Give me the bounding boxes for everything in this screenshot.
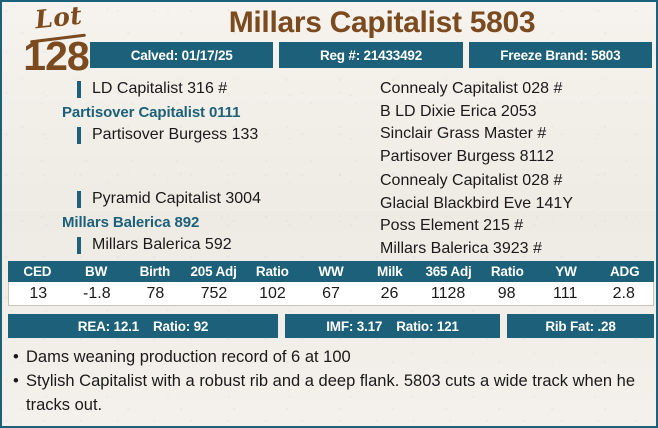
epd-value-row: 13 -1.8 78 752 102 67 26 1128 98 111 2.8 xyxy=(8,282,654,306)
pedigree-dam-great-2: Glacial Blackbird Eve 141Y xyxy=(380,193,656,216)
measurement-bars: REA: 12.1 Ratio: 92 IMF: 3.17 Ratio: 121… xyxy=(8,314,654,338)
epd-header-row: CED BW Birth 205 Adj Ratio WW Milk 365 A… xyxy=(8,261,654,282)
pedigree-dam-left: Pyramid Capitalist 3004 Millars Balerica… xyxy=(62,188,372,256)
notes-list: • Dams weaning production record of 6 at… xyxy=(10,345,654,417)
bullet-icon: • xyxy=(13,369,19,393)
epd-header-ww: WW xyxy=(302,261,361,282)
epd-value-365-adj: 1128 xyxy=(419,282,478,305)
epd-header-ratio-2: Ratio xyxy=(478,261,537,282)
epd-value-ratio-1: 102 xyxy=(243,282,302,305)
pedigree-dam-great-3: Poss Element 215 # xyxy=(380,215,656,238)
info-bar-reg: Reg #: 21433492 xyxy=(279,42,462,68)
epd-header-birth: Birth xyxy=(125,261,184,282)
pedigree-sire-granddam: Partisover Burgess 133 xyxy=(62,124,372,147)
note-item: • Dams weaning production record of 6 at… xyxy=(10,345,654,369)
pedigree-dam-great-4: Millars Balerica 3923 # xyxy=(380,238,656,261)
pedigree-sire-great-2: B LD Dixie Erica 2053 xyxy=(380,101,656,124)
pedigree-sire-great-3: Sinclair Grass Master # xyxy=(380,123,656,146)
epd-value-birth: 78 xyxy=(126,282,185,305)
epd-header-ratio-1: Ratio xyxy=(243,261,302,282)
measurement-rib-fat-value: Rib Fat: .28 xyxy=(545,319,615,334)
lot-number: 128 xyxy=(10,35,102,77)
epd-header-milk: Milk xyxy=(360,261,419,282)
bullet-icon: • xyxy=(13,345,19,369)
pedigree-dam-granddam-label: Millars Balerica 592 xyxy=(92,236,232,253)
info-bar-calved: Calved: 01/17/25 xyxy=(90,42,273,68)
epd-header-yw: YW xyxy=(537,261,596,282)
epd-header-365-adj: 365 Adj xyxy=(419,261,478,282)
measurement-bar-imf: IMF: 3.17 Ratio: 121 xyxy=(285,314,500,338)
epd-value-ww: 67 xyxy=(302,282,361,305)
pedigree-sire-great-1: Connealy Capitalist 028 # xyxy=(380,78,656,101)
pedigree-tick-icon xyxy=(77,127,81,144)
pedigree-dam-granddam: Millars Balerica 592 xyxy=(62,234,372,257)
epd-value-ratio-2: 98 xyxy=(477,282,536,305)
pedigree-tick-icon xyxy=(77,237,81,254)
epd-header-205-adj: 205 Adj xyxy=(184,261,243,282)
measurement-rea-value: REA: 12.1 xyxy=(78,319,139,334)
pedigree-dam-grandsire-label: Pyramid Capitalist 3004 xyxy=(92,190,261,207)
lot-card: Lot 128 Millars Capitalist 5803 Calved: … xyxy=(0,0,658,428)
measurement-imf-ratio: Ratio: 121 xyxy=(396,319,459,334)
header-info-bars: Calved: 01/17/25 Reg #: 21433492 Freeze … xyxy=(90,42,652,68)
lot-label: Lot xyxy=(34,2,84,35)
epd-value-ced: 13 xyxy=(9,282,68,305)
epd-value-adg: 2.8 xyxy=(594,282,653,305)
epd-header-bw: BW xyxy=(67,261,126,282)
lot-block: Lot 128 xyxy=(10,4,102,82)
pedigree-sire-granddam-label: Partisover Burgess 133 xyxy=(92,126,258,143)
measurement-bar-rea: REA: 12.1 Ratio: 92 xyxy=(8,314,278,338)
pedigree-dam-right: Connealy Capitalist 028 # Glacial Blackb… xyxy=(380,170,656,260)
pedigree-dam-grandsire: Pyramid Capitalist 3004 xyxy=(62,188,372,211)
measurement-rea-ratio: Ratio: 92 xyxy=(153,319,208,334)
pedigree-sire-name: Partisover Capitalist 0111 xyxy=(62,101,372,124)
pedigree-tick-icon xyxy=(77,191,81,208)
epd-table: CED BW Birth 205 Adj Ratio WW Milk 365 A… xyxy=(8,261,654,306)
epd-value-bw: -1.8 xyxy=(68,282,127,305)
epd-header-ced: CED xyxy=(8,261,67,282)
pedigree-sire-right: Connealy Capitalist 028 # B LD Dixie Eri… xyxy=(380,78,656,168)
note-item: • Stylish Capitalist with a robust rib a… xyxy=(10,369,654,417)
pedigree-sire-great-4: Partisover Burgess 8112 xyxy=(380,146,656,169)
note-text: Dams weaning production record of 6 at 1… xyxy=(26,348,351,366)
epd-value-205-adj: 752 xyxy=(185,282,244,305)
page-title: Millars Capitalist 5803 xyxy=(112,6,652,40)
measurement-imf-value: IMF: 3.17 xyxy=(326,319,382,334)
epd-value-yw: 111 xyxy=(536,282,595,305)
pedigree-sire-grandsire: LD Capitalist 316 # xyxy=(62,78,372,101)
note-text: Stylish Capitalist with a robust rib and… xyxy=(26,372,635,414)
pedigree-dam-great-1: Connealy Capitalist 028 # xyxy=(380,170,656,193)
epd-value-milk: 26 xyxy=(360,282,419,305)
epd-header-adg: ADG xyxy=(595,261,654,282)
pedigree-sire-left: LD Capitalist 316 # Partisover Capitalis… xyxy=(62,78,372,146)
pedigree-sire-grandsire-label: LD Capitalist 316 # xyxy=(92,80,227,97)
pedigree-tick-icon xyxy=(77,81,81,98)
info-bar-freeze-brand: Freeze Brand: 5803 xyxy=(469,42,652,68)
pedigree-dam-name: Millars Balerica 892 xyxy=(62,211,372,234)
measurement-bar-rib-fat: Rib Fat: .28 xyxy=(507,314,654,338)
